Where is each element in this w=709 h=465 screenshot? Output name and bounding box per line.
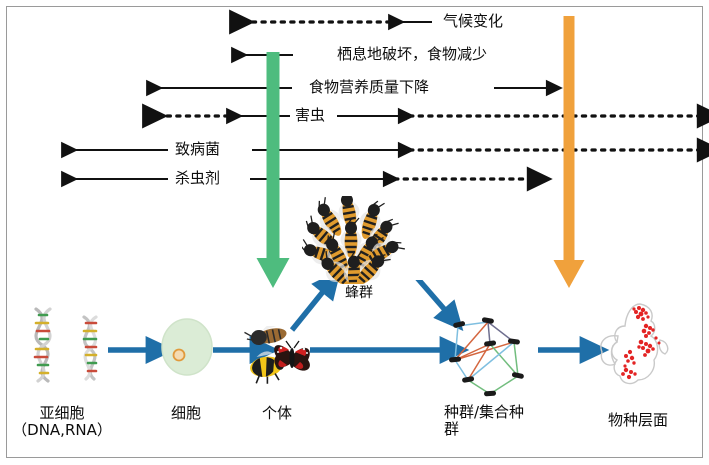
level-label-subcellular: 亚细胞 （DNA,RNA） xyxy=(0,405,124,439)
level-label-cell-main: 细胞 xyxy=(171,404,201,422)
orange-driver-arrow xyxy=(554,16,585,288)
insects-icon xyxy=(242,326,314,392)
cell-icon xyxy=(158,317,216,377)
level-label-subcellular-main: 亚细胞 xyxy=(39,404,84,422)
level-label-species-main: 物种层面 xyxy=(608,411,668,429)
flow-arrow xyxy=(292,283,330,330)
green-driver-arrow xyxy=(257,52,290,288)
network-graph-icon xyxy=(444,316,536,400)
bee-swarm-icon xyxy=(302,196,406,284)
level-label-individual: 个体 xyxy=(227,405,327,422)
stressor-label-pathogens: 致病菌 xyxy=(175,141,220,158)
flow-arrow xyxy=(412,280,452,318)
level-label-subcellular-sub: （DNA,RNA） xyxy=(0,422,124,439)
level-label-colony-main: 蜂群 xyxy=(345,285,373,301)
stressor-label-pests: 害虫 xyxy=(295,107,325,124)
level-label-population: 种群/集合种 群 xyxy=(444,404,564,438)
stressor-label-food-quality: 食物营养质量下降 xyxy=(309,79,429,96)
level-label-colony: 蜂群 xyxy=(345,286,373,302)
figure-root: 气候变化 栖息地破坏，食物减少 食物营养质量下降 害虫 致病菌 杀虫剂 xyxy=(0,0,709,465)
level-label-cell: 细胞 xyxy=(136,405,236,422)
level-label-population-main: 种群/集合种 xyxy=(444,403,524,421)
stressor-label-pesticides: 杀虫剂 xyxy=(175,170,220,187)
stressor-label-habitat-loss: 栖息地破坏，食物减少 xyxy=(337,46,487,63)
stressor-label-climate-change: 气候变化 xyxy=(443,13,503,30)
level-label-individual-main: 个体 xyxy=(262,404,292,422)
level-label-population-sub: 群 xyxy=(444,421,564,438)
dna-helix-icon xyxy=(14,305,112,395)
distribution-map-icon xyxy=(596,300,680,396)
level-label-species: 物种层面 xyxy=(578,412,698,429)
